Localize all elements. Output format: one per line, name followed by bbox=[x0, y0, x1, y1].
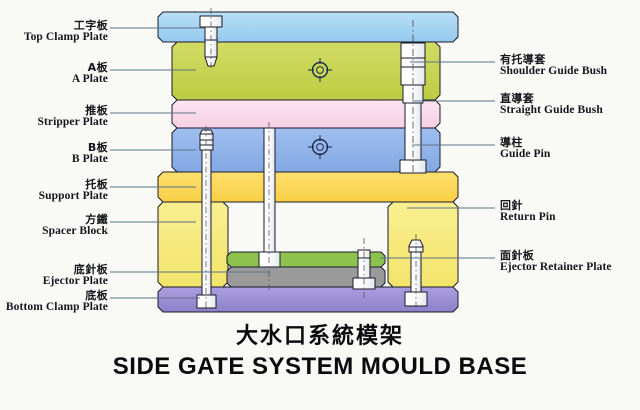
label-stripper-plate: 推板 Stripper Plate bbox=[0, 105, 108, 129]
label-cn: 底板 bbox=[0, 290, 108, 301]
label-cn: 導柱 bbox=[500, 137, 550, 148]
label-ejector-plate: 底針板 Ejector Plate bbox=[0, 264, 108, 288]
label-guide-pin: 導柱 Guide Pin bbox=[500, 137, 550, 161]
label-en: Bottom Clamp Plate bbox=[0, 302, 108, 314]
label-return-pin: 回針 Return Pin bbox=[500, 200, 556, 224]
label-straight-guide-bush: 直導套 Straight Guide Bush bbox=[500, 93, 603, 117]
label-support-plate: 托板 Support Plate bbox=[0, 179, 108, 203]
label-cn: 底針板 bbox=[0, 264, 108, 275]
label-cn: 托板 bbox=[0, 179, 108, 190]
label-a-plate: A板 A Plate bbox=[0, 62, 108, 86]
label-en: Stripper Plate bbox=[0, 117, 108, 129]
label-en: Support Plate bbox=[0, 191, 108, 203]
label-en: Return Pin bbox=[500, 212, 556, 224]
label-top-clamp-plate: 工字板 Top Clamp Plate bbox=[0, 20, 108, 44]
label-en: A Plate bbox=[0, 74, 108, 86]
label-en: B Plate bbox=[0, 154, 108, 166]
label-en: Straight Guide Bush bbox=[500, 105, 603, 117]
label-cn: A板 bbox=[0, 62, 108, 73]
label-spacer-block: 方鐵 Spacer Block bbox=[0, 214, 108, 238]
label-cn: B板 bbox=[0, 142, 108, 153]
label-cn: 面針板 bbox=[500, 250, 612, 261]
label-cn: 直導套 bbox=[500, 93, 603, 104]
spacer-block-right bbox=[388, 202, 458, 287]
label-cn: 推板 bbox=[0, 105, 108, 116]
mould-base-diagram: 工字板 Top Clamp Plate A板 A Plate 推板 Stripp… bbox=[0, 0, 640, 410]
label-en: Top Clamp Plate bbox=[0, 32, 108, 44]
title-english: SIDE GATE SYSTEM MOULD BASE bbox=[0, 353, 640, 381]
label-cn: 回針 bbox=[500, 200, 556, 211]
label-en: Spacer Block bbox=[0, 226, 108, 238]
label-en: Guide Pin bbox=[500, 149, 550, 161]
spacer-block bbox=[158, 202, 228, 287]
label-bottom-clamp-plate: 底板 Bottom Clamp Plate bbox=[0, 290, 108, 314]
title-chinese: 大水口系統模架 bbox=[0, 318, 640, 350]
label-cn: 方鐵 bbox=[0, 214, 108, 225]
stripper-plate bbox=[172, 100, 440, 128]
label-en: Ejector Plate bbox=[0, 276, 108, 288]
label-b-plate: B板 B Plate bbox=[0, 142, 108, 166]
diagram-title: 大水口系統模架 SIDE GATE SYSTEM MOULD BASE bbox=[0, 318, 640, 381]
label-ejector-retainer-plate: 面針板 Ejector Retainer Plate bbox=[500, 250, 612, 274]
label-en: Shoulder Guide Bush bbox=[500, 66, 607, 78]
label-cn: 工字板 bbox=[0, 20, 108, 31]
label-cn: 有托導套 bbox=[500, 54, 607, 65]
label-en: Ejector Retainer Plate bbox=[500, 262, 612, 274]
label-shoulder-guide-bush: 有托導套 Shoulder Guide Bush bbox=[500, 54, 607, 78]
